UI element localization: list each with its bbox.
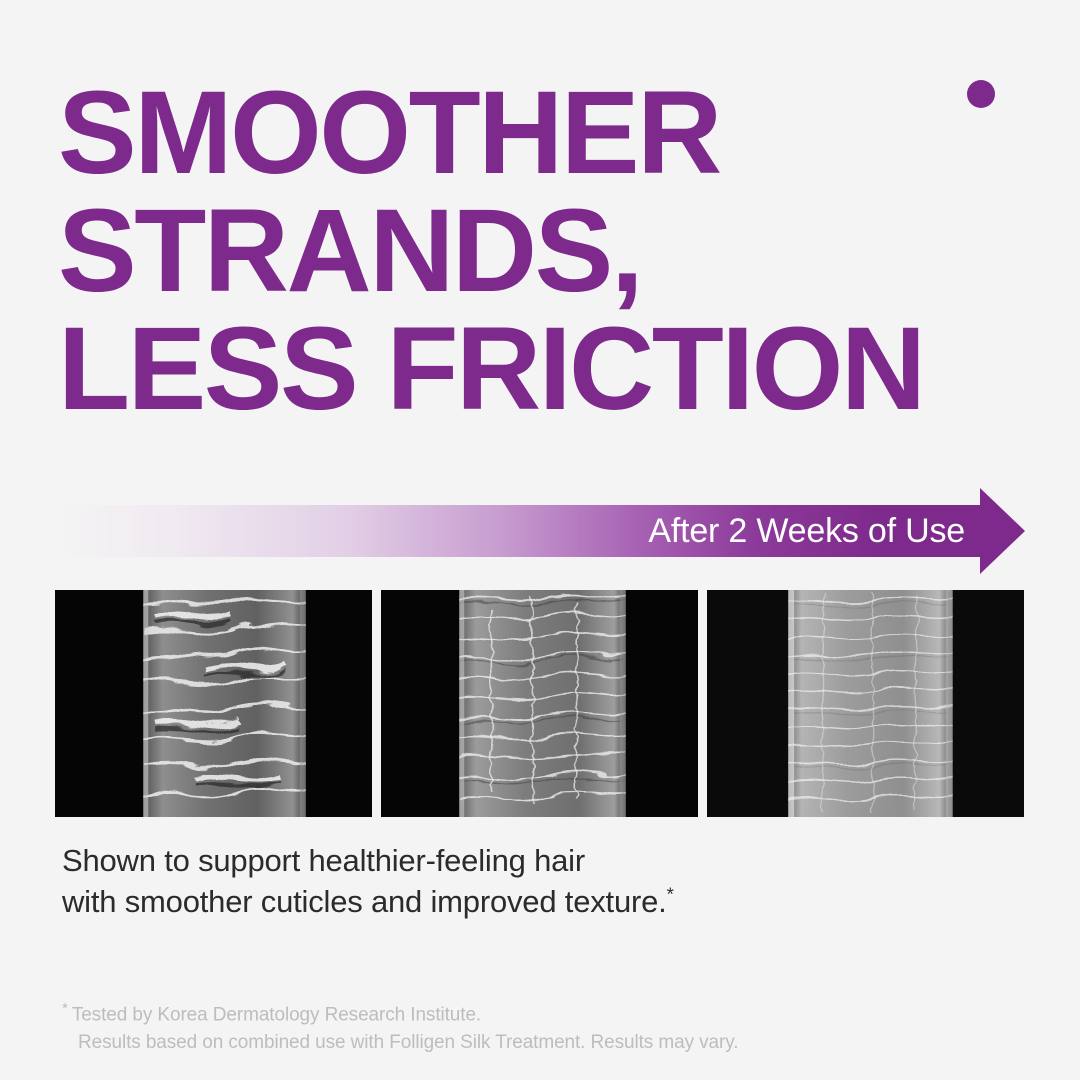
footnote-line-1-wrap: *Tested by Korea Dermatology Research In… [62, 995, 962, 1029]
footnote-marker: * [62, 1000, 68, 1017]
headline-line-1: SMOOTHER [58, 74, 958, 192]
sem-panel-after [707, 590, 1024, 817]
headline-line-2: STRANDS, [58, 192, 958, 310]
hair-strand-smooth-image [707, 590, 1024, 817]
body-copy-line-2-wrap: with smoother cuticles and improved text… [62, 881, 922, 922]
footnote-line-1: Tested by Korea Dermatology Research Ins… [72, 1004, 481, 1025]
sem-panel-before [55, 590, 372, 817]
body-copy-line-1: Shown to support healthier-feeling hair [62, 840, 922, 881]
timeline-arrow-label: After 2 Weeks of Use [648, 486, 965, 576]
body-copy-line-2: with smoother cuticles and improved text… [62, 884, 667, 919]
body-copy-asterisk: * [667, 884, 674, 905]
hair-strand-rough-image [55, 590, 372, 817]
infographic-canvas: SMOOTHER STRANDS, LESS FRICTION Af [0, 0, 1080, 1080]
sem-panel-row [55, 590, 1024, 817]
purple-dot-icon [967, 80, 995, 108]
footnote: *Tested by Korea Dermatology Research In… [62, 995, 962, 1057]
headline-line-3: LESS FRICTION [58, 310, 958, 428]
page-title: SMOOTHER STRANDS, LESS FRICTION [58, 74, 958, 428]
sem-panel-midway [381, 590, 698, 817]
hair-strand-medium-image [381, 590, 698, 817]
body-copy: Shown to support healthier-feeling hair … [62, 840, 922, 922]
timeline-arrow: After 2 Weeks of Use [55, 486, 1025, 576]
footnote-line-2: Results based on combined use with Folli… [62, 1029, 962, 1057]
